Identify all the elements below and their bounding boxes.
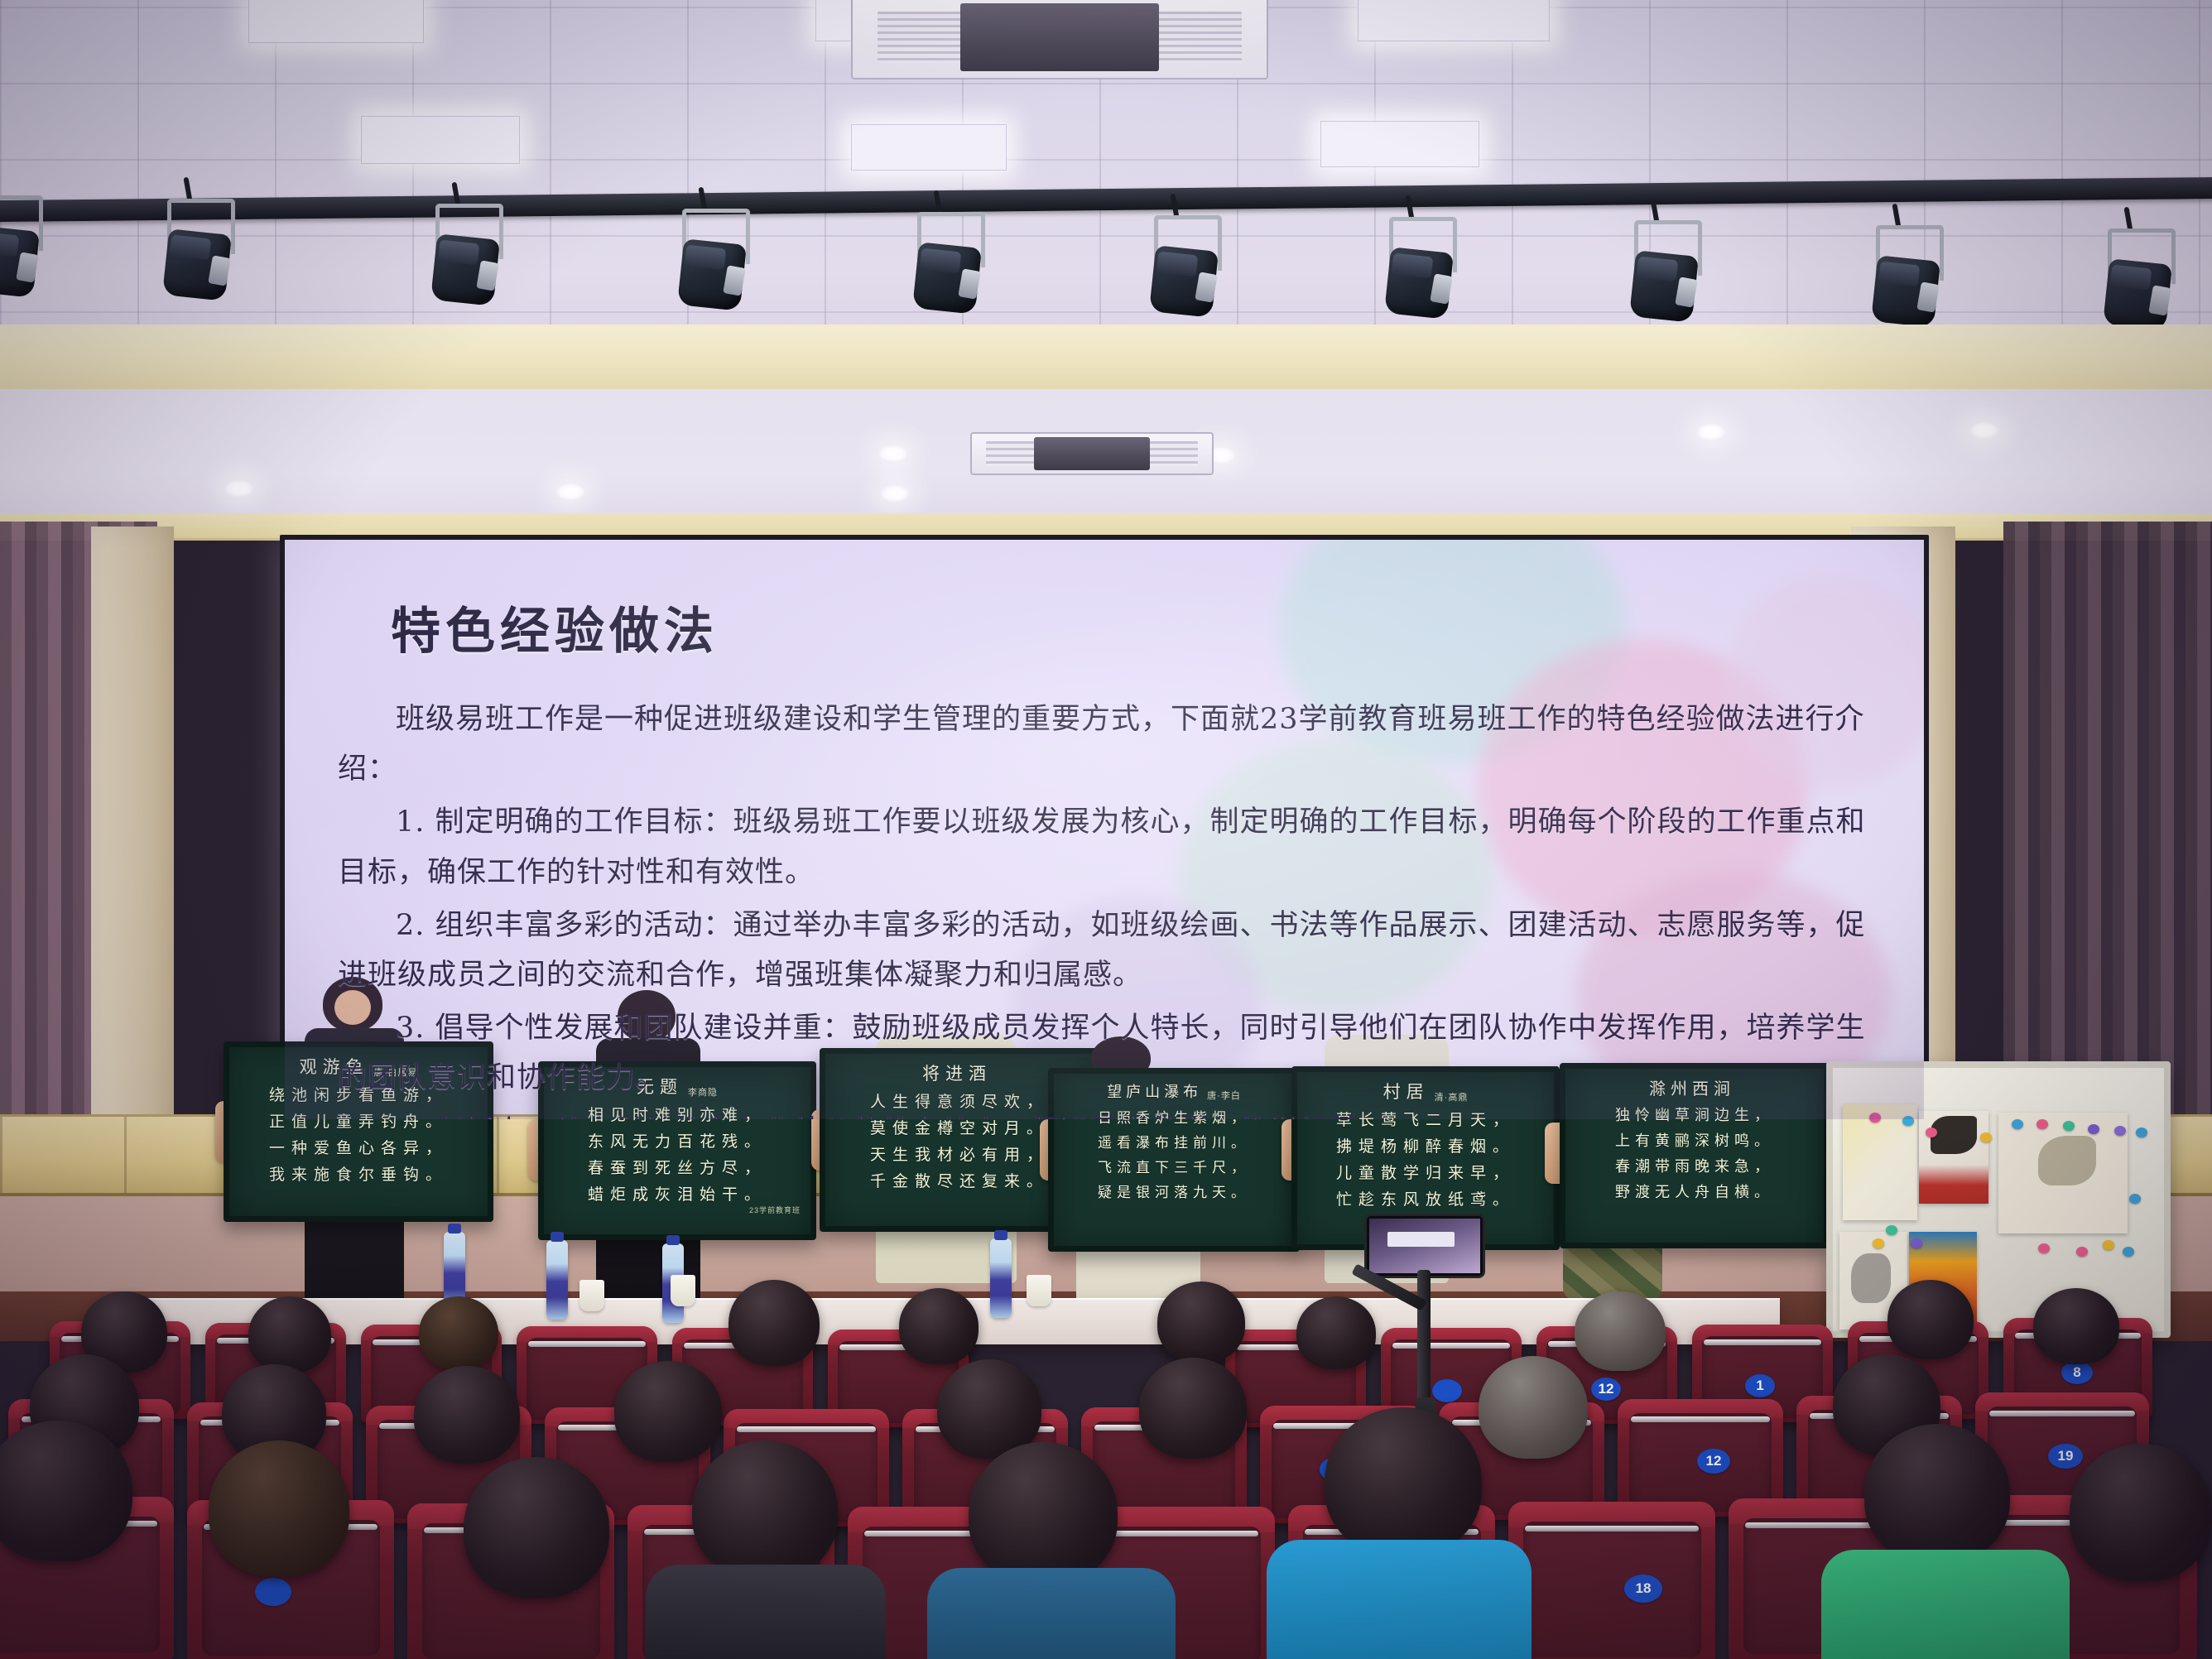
seat-number-badge: 19 <box>2048 1444 2083 1469</box>
seat-number-badge <box>255 1578 291 1606</box>
poem-line: 天生我材必有用， <box>870 1142 1049 1165</box>
ink-stroke <box>1931 1116 1977 1154</box>
paper-cup <box>671 1275 695 1306</box>
poem-line: 遥看瀑布挂前川。 <box>1098 1131 1250 1152</box>
magnet <box>2114 1126 2126 1136</box>
audience-head <box>414 1366 520 1464</box>
poem-line: 春潮带雨晚来急， <box>1615 1155 1774 1176</box>
stage-spotlight <box>1871 225 1940 325</box>
slide-paragraph: 2. 组织丰富多彩的活动：通过举办丰富多彩的活动，如班级绘画、书法等作品展示、团… <box>338 901 1876 1000</box>
audience-shoulder <box>1821 1550 2070 1659</box>
magnet <box>1873 1238 1884 1248</box>
poem-line: 莫使金樽空对月。 <box>870 1116 1049 1138</box>
slide-title: 特色经验做法 <box>391 591 1876 663</box>
audience-shoulder <box>1267 1540 1532 1659</box>
seat-number-badge: 1 <box>1745 1374 1775 1397</box>
recessed-downlight <box>879 445 907 462</box>
poem-line: 千金散尽还复来。 <box>870 1169 1049 1191</box>
tripod-column <box>1417 1270 1431 1402</box>
magnet <box>2103 1240 2114 1250</box>
ink-stroke <box>2038 1136 2096 1185</box>
seat-number: 1 <box>1756 1378 1763 1394</box>
recording-phone[interactable] <box>1364 1214 1485 1278</box>
magnet <box>2088 1124 2099 1134</box>
magnet <box>1911 1238 1922 1248</box>
stage-spotlight <box>2103 228 2172 328</box>
audience-head <box>1575 1291 1666 1371</box>
magnet <box>1926 1128 1937 1137</box>
stage-spotlight <box>430 204 500 303</box>
poem-line: 飞流直下三千尺， <box>1098 1156 1250 1176</box>
paper-cup <box>1027 1275 1051 1306</box>
poem-line: 蜡炬成灰泪始干。 <box>588 1182 767 1205</box>
wall-ac-vent <box>970 432 1214 475</box>
poem-line: 野渡无人舟自横。 <box>1615 1181 1774 1202</box>
magnet <box>2012 1119 2023 1129</box>
magnet <box>2123 1247 2134 1257</box>
audience-head <box>729 1280 820 1366</box>
poem-line: 东风无力百花残。 <box>588 1129 767 1152</box>
recessed-downlight <box>1697 424 1725 440</box>
recessed-downlight <box>556 483 584 500</box>
poem-line: 我来施食尔垂钩。 <box>269 1162 448 1185</box>
magnet <box>2076 1247 2088 1257</box>
poem-line: 儿童散学归来早， <box>1336 1161 1515 1183</box>
audience-head <box>248 1296 331 1373</box>
magnet <box>2136 1128 2147 1137</box>
poem-line: 忙趁东风放纸鸢。 <box>1336 1187 1515 1209</box>
stage-spotlight <box>1384 217 1454 316</box>
seat-number-badge: 8 <box>2061 1361 2093 1384</box>
seat-number: 12 <box>1706 1453 1722 1469</box>
poem-line: 春蚕到死丝方尽， <box>588 1156 767 1178</box>
seat-number: 19 <box>2058 1448 2074 1464</box>
audience-head <box>2033 1288 2119 1364</box>
recessed-downlight <box>1970 422 1998 439</box>
stage-spotlight <box>1149 215 1219 315</box>
stage-spotlight <box>162 199 232 298</box>
audience-shoulder <box>927 1568 1176 1659</box>
poem-line: 拂堤杨柳醉春烟。 <box>1336 1134 1515 1156</box>
magnet <box>2038 1243 2050 1253</box>
audience-head <box>209 1440 349 1576</box>
paper-cup <box>579 1280 604 1311</box>
audience-head <box>692 1440 838 1580</box>
magnet <box>2129 1194 2141 1204</box>
ceiling-ac-vent <box>851 0 1268 79</box>
water-bottle <box>990 1238 1012 1318</box>
poem-line: 上有黄鹂深树鸣。 <box>1615 1129 1774 1151</box>
projection-screen-frame: 特色经验做法 班级易班工作是一种促进班级建设和学生管理的重要方式，下面就23学前… <box>280 535 1929 1124</box>
poem-line: 疑是银河落九天。 <box>1098 1181 1250 1201</box>
ceiling-light-panel <box>248 0 424 43</box>
ink-stroke <box>1851 1253 1891 1303</box>
stage-spotlight <box>1629 220 1699 320</box>
magnet <box>1980 1132 1992 1142</box>
magnet <box>2036 1119 2048 1129</box>
auditorium-seat[interactable]: 18 <box>1508 1502 1715 1659</box>
slide-paragraph: 4. 创新点：结合学前教育专业幼儿的教育特点，促进同学教学与教学相同 <box>338 1107 1876 1120</box>
seat-number-badge: 12 <box>1591 1378 1621 1401</box>
recessed-downlight <box>225 480 253 497</box>
audience-head <box>1157 1282 1245 1363</box>
ceiling-soffit-band <box>0 325 2212 395</box>
stage-spotlight <box>0 195 40 295</box>
seat-number-badge: 18 <box>1624 1575 1662 1603</box>
recessed-downlight <box>881 485 909 502</box>
audience-head <box>969 1442 1118 1584</box>
seat-number: 8 <box>2073 1364 2080 1381</box>
slide-paragraph: 3. 倡导个性发展和团队建设并重：鼓励班级成员发挥个人特长，同时引导他们在团队协… <box>338 1003 1876 1103</box>
audience-head <box>1139 1358 1247 1459</box>
water-bottle <box>546 1240 568 1320</box>
audience-shoulder <box>646 1565 886 1659</box>
seat-number-badge: 12 <box>1697 1449 1730 1474</box>
magnet <box>1886 1225 1897 1235</box>
audience-head <box>2070 1444 2212 1581</box>
slide-paragraph: 1. 制定明确的工作目标：班级易班工作要以班级发展为核心，制定明确的工作目标，明… <box>338 797 1876 897</box>
poem-signature: 23学前教育班 <box>749 1205 801 1215</box>
ceiling-light-panel <box>361 116 520 164</box>
poem-line: 一种爱鱼心各异， <box>269 1136 448 1158</box>
stage-spotlight <box>912 212 982 311</box>
projection-screen: 特色经验做法 班级易班工作是一种促进班级建设和学生管理的重要方式，下面就23学前… <box>285 540 1924 1119</box>
ceiling-light-panel <box>1320 121 1479 167</box>
stage-spotlight <box>677 209 747 308</box>
seat-number: 18 <box>1636 1580 1652 1597</box>
audience-head <box>1864 1424 2010 1563</box>
audience-head <box>464 1457 609 1598</box>
audience-head <box>614 1361 722 1462</box>
slide-paragraph: 班级易班工作是一种促进班级建设和学生管理的重要方式，下面就23学前教育班易班工作… <box>338 695 1876 794</box>
ceiling-light-panel <box>1358 0 1550 41</box>
audience-head <box>899 1288 979 1364</box>
audience-head <box>419 1296 498 1369</box>
ceiling-light-panel <box>851 124 1007 171</box>
auditorium-photo: 特色经验做法 班级易班工作是一种促进班级建设和学生管理的重要方式，下面就23学前… <box>0 0 2212 1659</box>
magnet <box>2063 1121 2075 1131</box>
audience-head <box>1325 1407 1482 1556</box>
seat-number: 12 <box>1599 1381 1614 1397</box>
audience-head <box>1887 1280 1974 1359</box>
